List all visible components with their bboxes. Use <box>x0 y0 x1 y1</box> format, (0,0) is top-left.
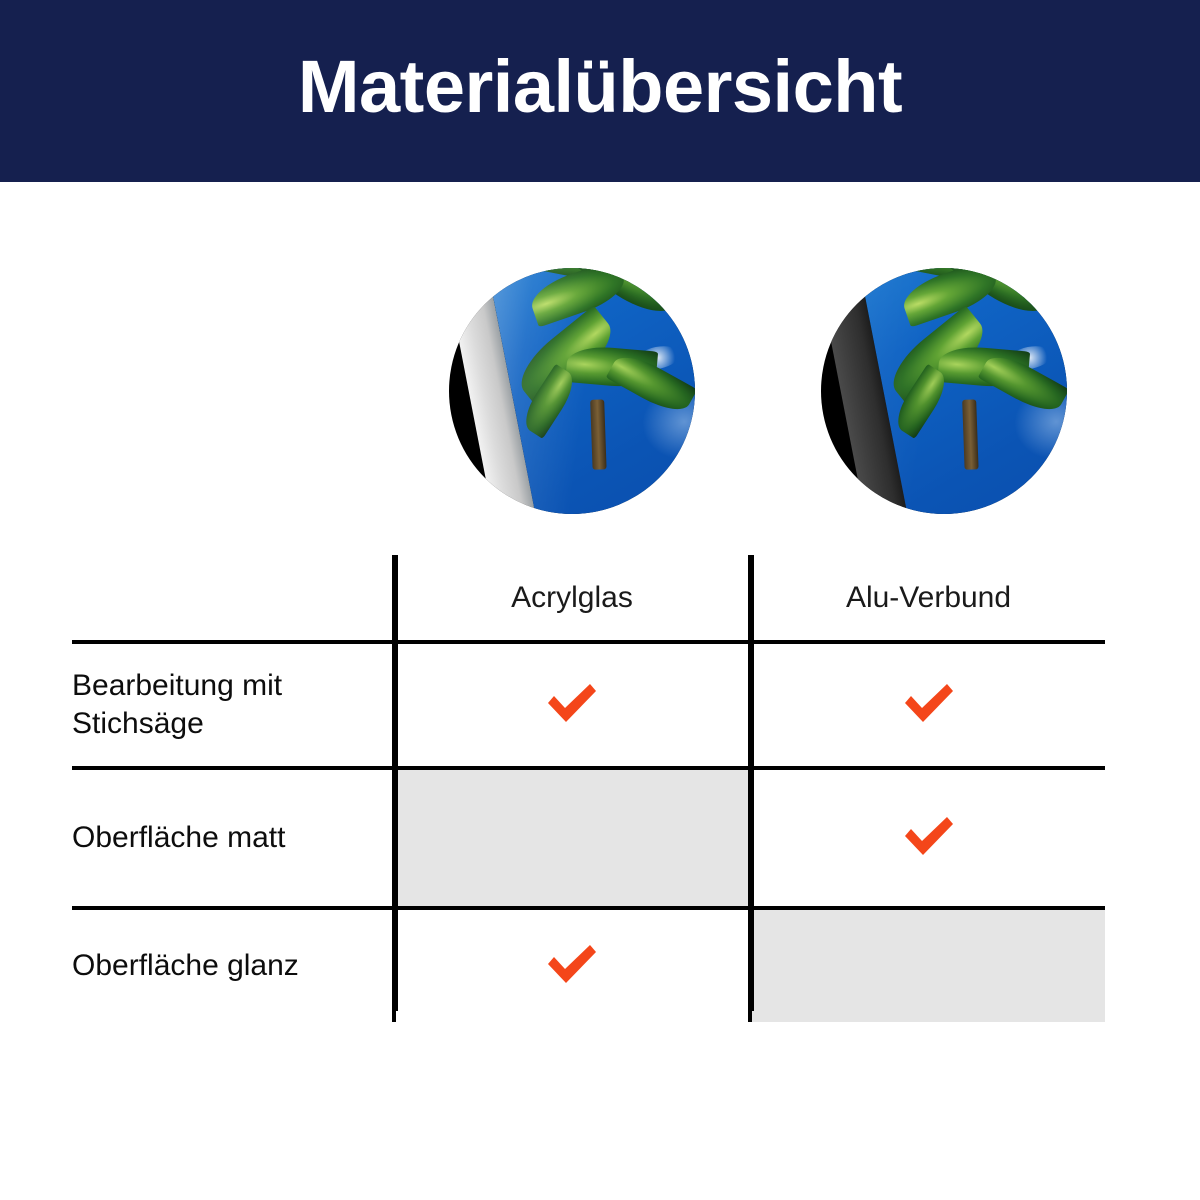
check-icon <box>901 681 957 725</box>
palm-trunk <box>962 399 978 469</box>
palm-frond <box>978 348 1067 419</box>
table-row: Bearbeitung mit Stichsäge <box>72 642 1105 768</box>
palm-frond <box>510 305 623 409</box>
table-header-row: Acrylglas Alu-Verbund <box>72 555 1105 642</box>
product-image-acrylglas <box>449 268 695 514</box>
palm-frond <box>890 364 953 439</box>
check-icon <box>901 814 957 858</box>
table-row: Oberfläche matt <box>72 768 1105 908</box>
cell-alu-matt <box>750 768 1105 908</box>
product-image-row <box>0 268 1200 518</box>
palm-frond <box>937 268 1063 326</box>
acrylglas-panel <box>449 268 695 514</box>
alu-verbund-panel <box>821 268 1067 514</box>
palm-frond <box>937 344 1030 390</box>
cloud-shape <box>665 386 695 406</box>
column-divider-2 <box>750 555 754 1011</box>
column-divider-1 <box>394 555 398 1011</box>
row-label-oberflaeche-matt: Oberfläche matt <box>72 768 394 908</box>
cloud-shape <box>1006 343 1053 373</box>
palm-frond <box>882 305 995 409</box>
palm-frond <box>565 268 691 326</box>
palm-frond <box>565 344 658 390</box>
material-comparison-table: Acrylglas Alu-Verbund Bearbeitung mit St… <box>72 555 1105 1011</box>
palm-frond <box>898 268 1002 327</box>
cell-acrylglas-matt <box>394 768 750 908</box>
product-image-alu-verbund <box>821 268 1067 514</box>
cloud-shape <box>634 343 681 373</box>
header-corner-cell <box>72 555 394 642</box>
page-title: Materialübersicht <box>298 50 902 124</box>
check-icon <box>544 942 600 986</box>
comparison-grid: Acrylglas Alu-Verbund Bearbeitung mit St… <box>72 555 1105 1022</box>
palm-frond <box>526 268 630 327</box>
cell-acrylglas-bearbeitung <box>394 642 750 768</box>
cell-acrylglas-glanz <box>394 908 750 1022</box>
cloud-shape <box>1037 386 1067 406</box>
page-header: Materialübersicht <box>0 0 1200 182</box>
row-label-bearbeitung: Bearbeitung mit Stichsäge <box>72 642 394 768</box>
column-header-acrylglas: Acrylglas <box>394 555 750 642</box>
table-row: Oberfläche glanz <box>72 908 1105 1022</box>
palm-frond <box>518 364 581 439</box>
palm-trunk <box>590 399 606 469</box>
palm-frond <box>903 268 1043 293</box>
check-icon <box>544 681 600 725</box>
column-header-alu-verbund: Alu-Verbund <box>750 555 1105 642</box>
palm-frond <box>606 348 695 419</box>
row-label-oberflaeche-glanz: Oberfläche glanz <box>72 908 394 1022</box>
palm-frond <box>531 268 671 293</box>
cell-alu-glanz <box>750 908 1105 1022</box>
cell-alu-bearbeitung <box>750 642 1105 768</box>
